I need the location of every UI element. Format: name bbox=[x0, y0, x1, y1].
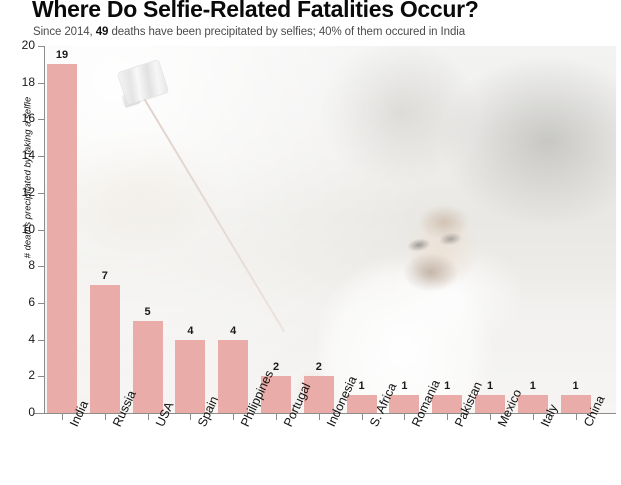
y-tick bbox=[38, 83, 44, 84]
x-tick bbox=[276, 414, 277, 420]
y-tick bbox=[38, 340, 44, 341]
x-tick bbox=[319, 414, 320, 420]
bar-russia[interactable] bbox=[90, 285, 120, 413]
y-tick bbox=[38, 193, 44, 194]
bar-value-label: 2 bbox=[304, 361, 334, 373]
chart-figure: Where Do Selfie-Related Fatalities Occur… bbox=[0, 0, 621, 485]
y-tick-label-0: 0 bbox=[28, 405, 35, 419]
bar-value-label: 19 bbox=[47, 49, 77, 61]
bar-value-label: 1 bbox=[432, 380, 462, 392]
y-tick bbox=[38, 156, 44, 157]
bar-value-label: 5 bbox=[133, 306, 163, 318]
x-tick bbox=[447, 414, 448, 420]
subtitle-suffix: deaths have been precipitated by selfies… bbox=[108, 26, 465, 38]
y-tick bbox=[38, 303, 44, 304]
y-tick bbox=[38, 230, 44, 231]
bar-india[interactable] bbox=[47, 64, 77, 413]
bar-philippines[interactable] bbox=[218, 340, 248, 413]
x-tick bbox=[404, 414, 405, 420]
subtitle-prefix: Since 2014, bbox=[33, 26, 96, 38]
bar-value-label: 7 bbox=[90, 270, 120, 282]
x-tick bbox=[105, 414, 106, 420]
subtitle-highlight: 49 bbox=[96, 26, 109, 38]
x-tick bbox=[148, 414, 149, 420]
x-tick bbox=[233, 414, 234, 420]
x-tick bbox=[490, 414, 491, 420]
bar-value-label: 1 bbox=[389, 380, 419, 392]
y-tick bbox=[38, 266, 44, 267]
y-tick bbox=[38, 119, 44, 120]
x-tick bbox=[533, 414, 534, 420]
bar-spain[interactable] bbox=[175, 340, 205, 413]
bar-value-label: 1 bbox=[561, 380, 591, 392]
x-tick bbox=[62, 414, 63, 420]
bar-value-label: 1 bbox=[518, 380, 548, 392]
bar-usa[interactable] bbox=[133, 321, 163, 413]
y-tick bbox=[38, 46, 44, 47]
y-axis-line bbox=[44, 46, 45, 414]
y-tick-label-6: 6 bbox=[28, 295, 35, 309]
y-tick-label-4: 4 bbox=[28, 332, 35, 346]
bar-value-label: 1 bbox=[347, 380, 377, 392]
chart-title: Where Do Selfie-Related Fatalities Occur… bbox=[32, 0, 479, 23]
bar-value-label: 1 bbox=[475, 380, 505, 392]
x-tick bbox=[190, 414, 191, 420]
y-tick-label-20: 20 bbox=[22, 38, 35, 52]
chart-subtitle: Since 2014, 49 deaths have been precipit… bbox=[33, 26, 465, 38]
bar-value-label: 4 bbox=[175, 325, 205, 337]
bar-value-label: 2 bbox=[261, 361, 291, 373]
y-axis-label: # deaths precipitated by taking a selfie bbox=[23, 78, 34, 278]
plot-area bbox=[45, 46, 616, 413]
y-tick bbox=[38, 376, 44, 377]
x-tick bbox=[362, 414, 363, 420]
y-tick-label-2: 2 bbox=[28, 368, 35, 382]
y-tick bbox=[38, 413, 44, 414]
x-tick bbox=[576, 414, 577, 420]
bar-value-label: 4 bbox=[218, 325, 248, 337]
